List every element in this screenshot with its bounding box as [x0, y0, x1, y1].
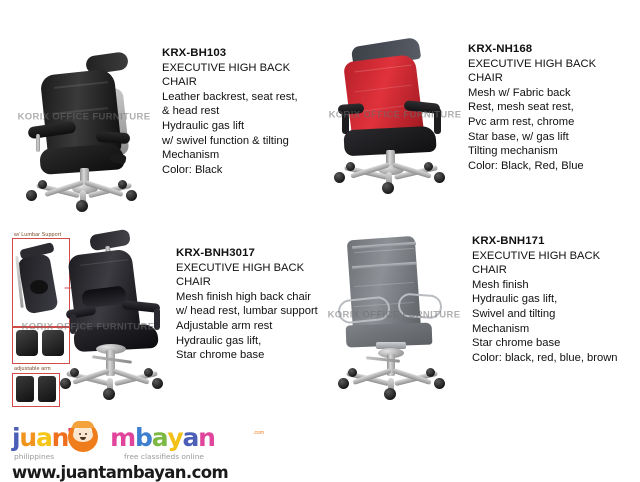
- product-spec-line: Color: Black, Red, Blue: [468, 159, 596, 174]
- logo-letter: n: [198, 424, 215, 452]
- product-spec-line: Color: Black: [162, 163, 298, 178]
- logo-letter: j: [12, 424, 19, 452]
- tagline-philippines: philippines: [14, 452, 54, 461]
- product-model: KRX-NH168: [468, 42, 596, 57]
- product-spec-line: Mesh w/ Fabric back: [468, 86, 596, 101]
- product-spec-line: Hydraulic gas lift,: [472, 292, 618, 307]
- product-spec-line: Mesh finish: [472, 278, 618, 293]
- product-spec-line: CHAIR: [472, 263, 618, 278]
- logo-letter: y: [167, 424, 182, 452]
- tagline-classifieds: free classifieds online: [124, 452, 204, 461]
- product-spec-line: Hydraulic gas lift,: [176, 334, 318, 349]
- product-image-krx-bh103: KORIX OFFICE FURNITURE: [14, 28, 154, 206]
- product-card-krx-bnh171: KORIX OFFICE FURNITURE KRX-BNH171 EXECUT…: [324, 224, 618, 406]
- product-spec-line: EXECUTIVE HIGH BACK: [468, 57, 596, 72]
- product-image-krx-bnh3017: w/ Lumbar Support adjustable arm ⟶: [8, 226, 168, 406]
- logo-wordmark[interactable]: juanTmbayan .com: [12, 424, 262, 452]
- product-card-krx-bh103: KORIX OFFICE FURNITURE KRX-BH103 EXECUTI…: [14, 28, 298, 206]
- catalog-sheet: KORIX OFFICE FURNITURE KRX-BH103 EXECUTI…: [0, 0, 640, 480]
- product-spec-line: Hydraulic gas lift: [162, 119, 298, 134]
- product-spec-line: Tilting mechanism: [468, 144, 596, 159]
- product-spec-line: Mechanism: [162, 148, 298, 163]
- product-spec-line: w/ swivel function & tilting: [162, 134, 298, 149]
- product-spec-line: CHAIR: [162, 75, 298, 90]
- product-spec-line: Star base, w/ gas lift: [468, 130, 596, 145]
- logo-letter: a: [182, 424, 198, 452]
- sun-mouth: [80, 437, 86, 440]
- product-specs-krx-bh103: KRX-BH103 EXECUTIVE HIGH BACK CHAIR Leat…: [154, 28, 298, 177]
- product-spec-line: Mesh finish high back chair: [176, 290, 318, 305]
- logo-letter: b: [135, 424, 152, 452]
- logo-letter: a: [152, 424, 168, 452]
- product-spec-line: Pvc arm rest, chrome: [468, 115, 596, 130]
- product-spec-line: EXECUTIVE HIGH BACK: [472, 249, 618, 264]
- product-image-krx-bnh171: KORIX OFFICE FURNITURE: [324, 224, 464, 406]
- product-spec-line: EXECUTIVE HIGH BACK: [162, 61, 298, 76]
- logo-letter: a: [36, 424, 52, 452]
- sun-mascot-icon: [68, 422, 98, 452]
- product-spec-line: Color: black, red, blue, brown: [472, 351, 618, 366]
- product-spec-line: Adjustable arm rest: [176, 319, 318, 334]
- product-specs-krx-nh168: KRX-NH168 EXECUTIVE HIGH BACK CHAIR Mesh…: [460, 24, 596, 173]
- product-model: KRX-BH103: [162, 46, 298, 61]
- product-spec-line: CHAIR: [176, 275, 318, 290]
- sun-eye-right: [85, 433, 87, 435]
- product-spec-line: CHAIR: [468, 71, 596, 86]
- product-model: KRX-BNH171: [472, 234, 618, 249]
- logo-letter: u: [19, 424, 36, 452]
- site-logo-footer[interactable]: juanTmbayan .com philippines free classi…: [12, 424, 262, 476]
- product-spec-line: & head rest: [162, 104, 298, 119]
- product-spec-line: Swivel and tilting: [472, 307, 618, 322]
- product-spec-line: Leather backrest, seat rest,: [162, 90, 298, 105]
- sun-eye-left: [79, 433, 81, 435]
- product-specs-krx-bnh171: KRX-BNH171 EXECUTIVE HIGH BACK CHAIR Mes…: [464, 224, 618, 365]
- product-card-krx-bnh3017: w/ Lumbar Support adjustable arm ⟶: [8, 226, 318, 406]
- site-url[interactable]: www.juantambayan.com: [12, 463, 262, 482]
- logo-tagline: philippines free classifieds online: [12, 452, 262, 463]
- product-card-krx-nh168: KORIX OFFICE FURNITURE KRX-NH168 EXECUTI…: [330, 24, 596, 206]
- logo-text-right: mbayan: [110, 423, 215, 452]
- product-spec-line: Rest, mesh seat rest,: [468, 100, 596, 115]
- sun-face: [73, 428, 93, 442]
- product-image-krx-nh168: KORIX OFFICE FURNITURE: [330, 24, 460, 206]
- product-spec-line: EXECUTIVE HIGH BACK: [176, 261, 318, 276]
- logo-letter: n: [52, 424, 69, 452]
- callout-label-adjustable-arm: adjustable arm: [14, 366, 51, 372]
- product-spec-line: Star chrome base: [176, 348, 318, 363]
- product-specs-krx-bnh3017: KRX-BNH3017 EXECUTIVE HIGH BACK CHAIR Me…: [168, 226, 318, 363]
- product-spec-line: Mechanism: [472, 322, 618, 337]
- logo-letter: m: [110, 424, 135, 452]
- logo-dotcom: .com: [253, 430, 264, 436]
- product-model: KRX-BNH3017: [176, 246, 318, 261]
- product-spec-line: w/ head rest, lumbar support: [176, 304, 318, 319]
- product-spec-line: Star chrome base: [472, 336, 618, 351]
